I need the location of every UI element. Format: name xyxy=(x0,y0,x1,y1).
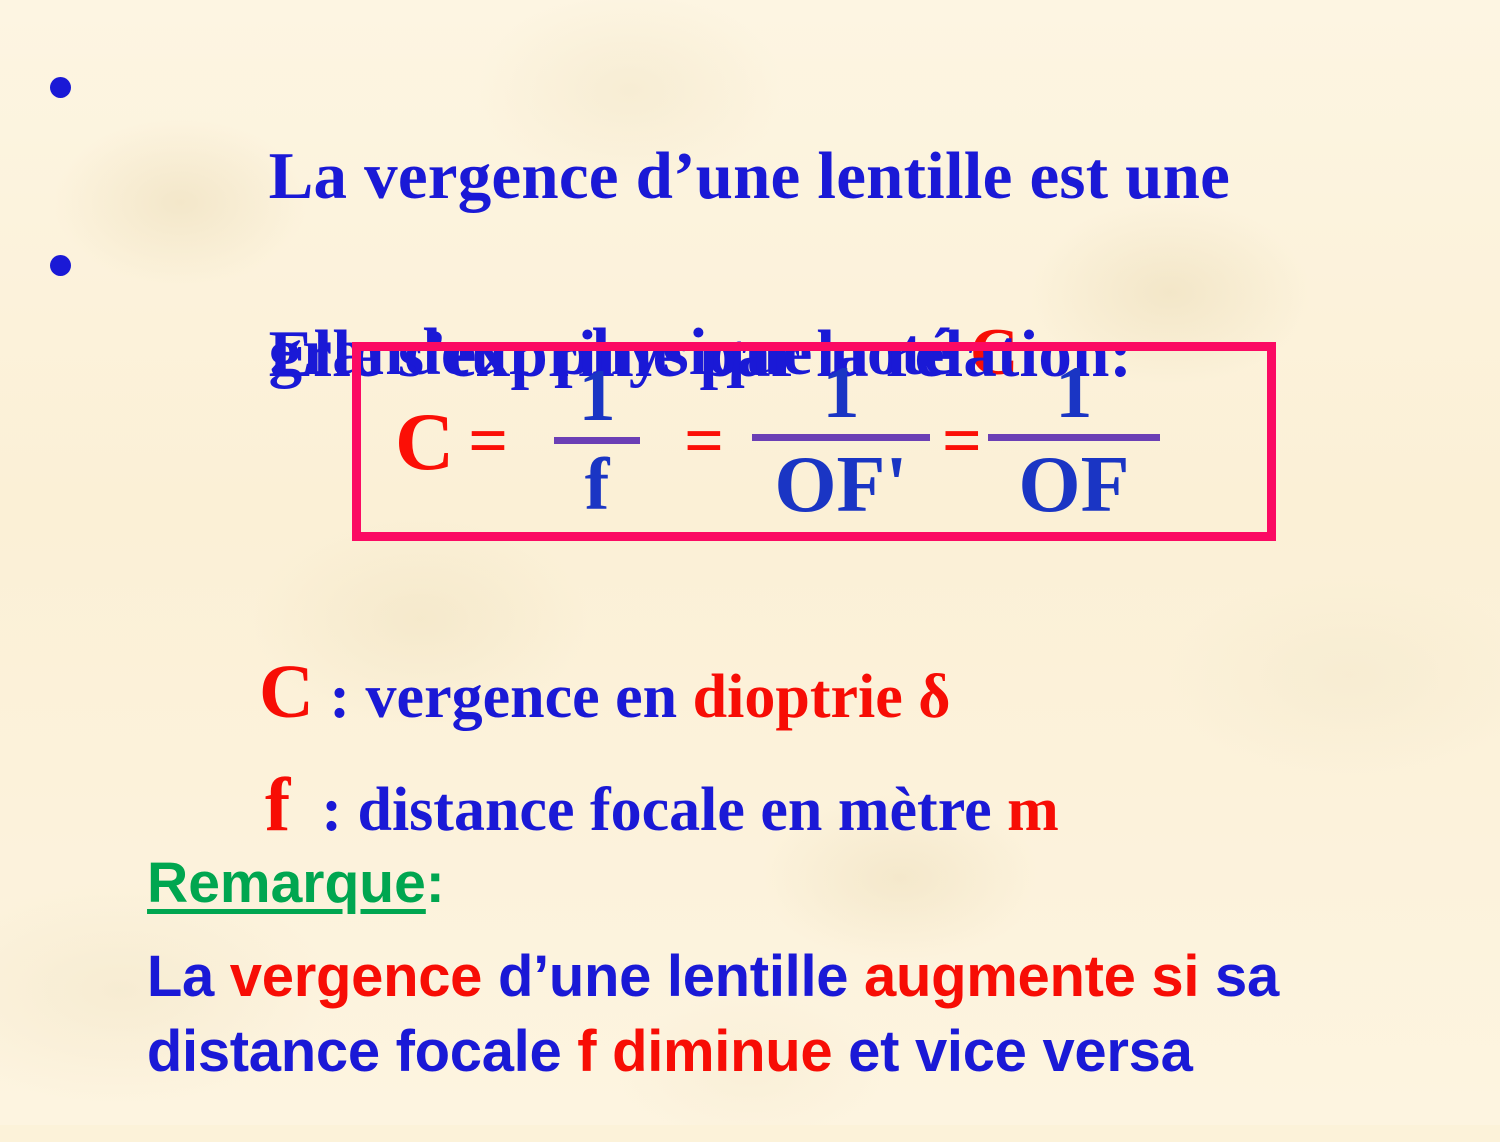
formula-fraction-1-numerator: 1 xyxy=(579,361,616,433)
formula-fraction-2-denominator: OF' xyxy=(774,443,907,525)
formula-fraction-3-numerator: 1 xyxy=(1055,358,1092,430)
legend-unit-metre: m xyxy=(1007,776,1059,844)
formula-symbol-c: C xyxy=(395,401,454,483)
bullet-dot-icon xyxy=(50,255,71,276)
remarque-line-2: distance focale f diminue et vice versa xyxy=(52,965,1193,1139)
fraction-bar-icon xyxy=(752,434,930,441)
legend-description-2: distance focale en mètre xyxy=(357,776,1007,844)
fraction-bar-icon xyxy=(988,434,1160,441)
remarque-l2-seg-1: distance focale xyxy=(147,1019,577,1084)
slide-canvas: La vergence d’une lentille est une grand… xyxy=(0,0,1500,1125)
remarque-l1-seg-6: sa xyxy=(1199,944,1279,1009)
formula-fraction-2: 1 OF' xyxy=(752,358,930,525)
formula-fraction-3-denominator: OF xyxy=(1018,443,1129,525)
formula-fraction-1: 1 f xyxy=(554,361,640,522)
bullet-1-line-1: La vergence d’une lentille est une xyxy=(269,139,1230,213)
formula-fraction-1-denominator: f xyxy=(585,446,610,522)
formula-equals-3: = xyxy=(942,407,982,477)
formula-equals-1: = xyxy=(468,407,508,477)
formula-fraction-2-numerator: 1 xyxy=(823,358,860,430)
formula-box: C = 1 f = 1 OF' = 1 OF xyxy=(352,342,1276,541)
remarque-l2-seg-2: f diminue xyxy=(577,1019,832,1084)
slide-content: La vergence d’une lentille est une grand… xyxy=(0,0,1500,1125)
formula-fraction-3: 1 OF xyxy=(988,358,1160,525)
remarque-l2-seg-3: et vice versa xyxy=(832,1019,1192,1084)
formula-equals-2: = xyxy=(684,407,724,477)
formula-expression: C = 1 f = 1 OF' = 1 OF xyxy=(361,351,1267,532)
bullet-dot-icon xyxy=(50,77,71,98)
fraction-bar-icon xyxy=(554,437,640,444)
